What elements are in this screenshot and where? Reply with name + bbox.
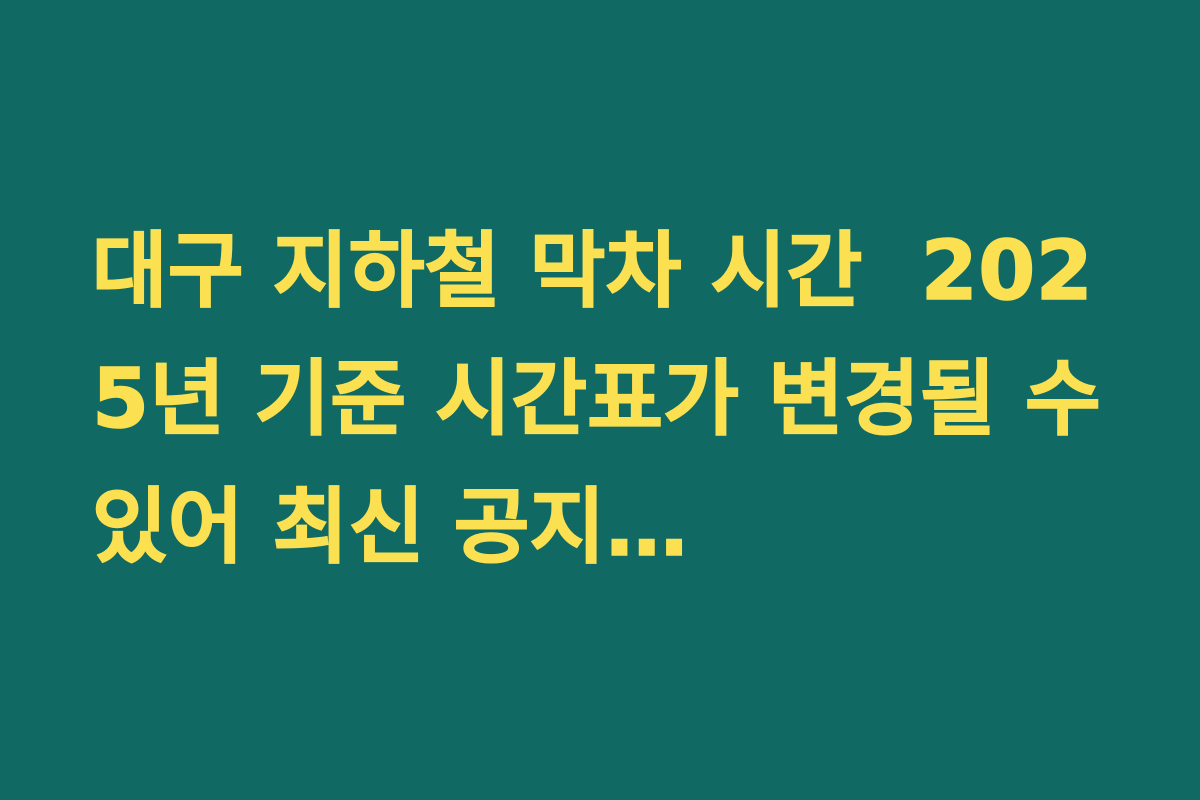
title-card: 대구 지하철 막차 시간 2025년 기준 시간표가 변경될 수 있어 최신 공… — [0, 0, 1200, 800]
headline-text: 대구 지하철 막차 시간 2025년 기준 시간표가 변경될 수 있어 최신 공… — [0, 208, 1200, 592]
